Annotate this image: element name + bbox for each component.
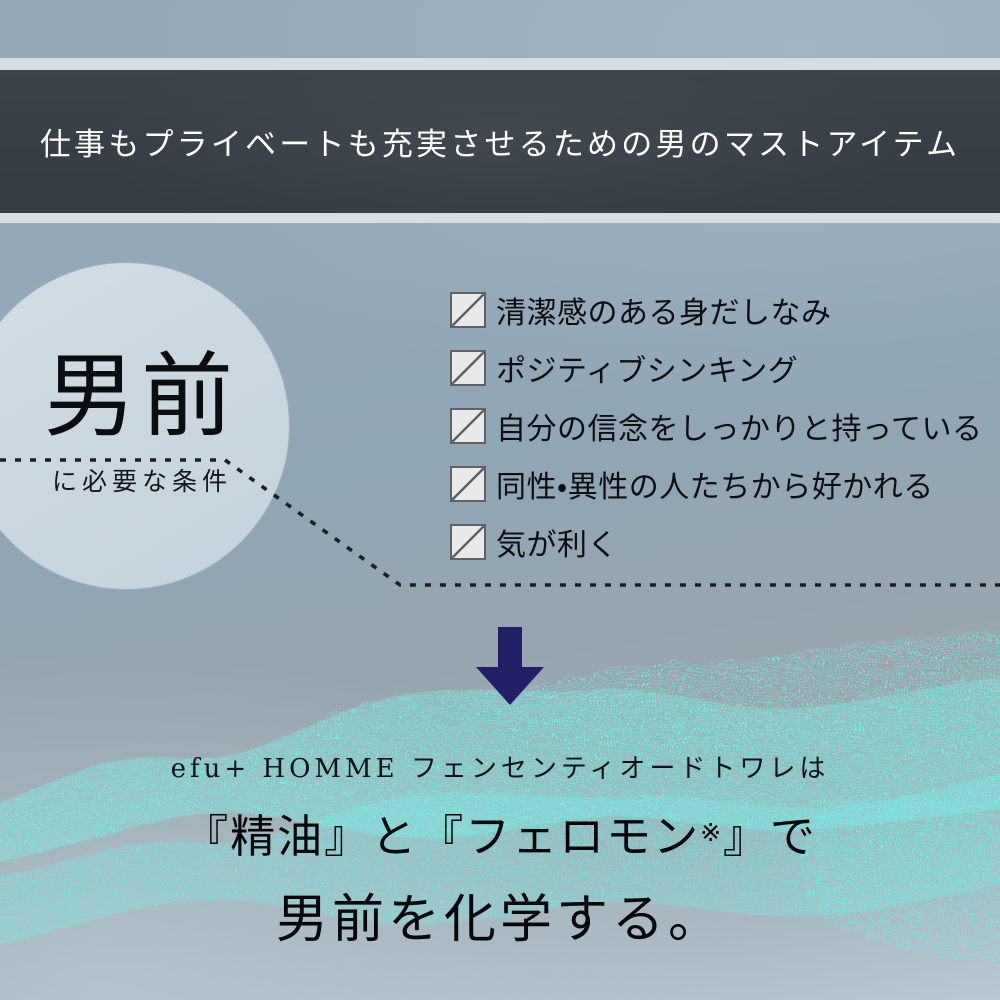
tagline-line-3: 男前を化学する。 (276, 877, 724, 952)
header-title: 仕事もプライベートも充実させるための男のマストアイテム (40, 119, 960, 164)
tagline-part-a: 『精油』と『フェロモン (183, 810, 700, 863)
list-item-label: ポジティブシンキング (496, 346, 798, 390)
list-item-label: 同性・異性の人たちから好かれる (496, 462, 934, 506)
tagline-part-b: 』で (723, 810, 817, 863)
bottom-copy: efu+ HOMME フェンセンティオードトワレは 『精油』と『フェロモン※』で… (0, 748, 1000, 952)
checkbox-diagonal-icon[interactable] (450, 292, 486, 328)
list-item-label: 気が利く (496, 520, 618, 564)
promo-banner: 仕事もプライベートも充実させるための男のマストアイテム 男前 に必要な条件 清潔… (0, 0, 1000, 1000)
header-top-strip (0, 58, 1000, 70)
list-item: 気が利く (450, 513, 995, 571)
checkbox-diagonal-icon[interactable] (450, 524, 486, 560)
list-item: 同性・異性の人たちから好かれる (450, 455, 995, 513)
requirements-checklist: 清潔感のある身だしなみ ポジティブシンキング 自分の信念をしっかりと持っている … (450, 281, 995, 571)
product-name-line: efu+ HOMME フェンセンティオードトワレは (171, 748, 830, 785)
list-item-label: 自分の信念をしっかりと持っている (496, 404, 983, 448)
list-item: 清潔感のある身だしなみ (450, 281, 995, 339)
checkbox-diagonal-icon[interactable] (450, 350, 486, 386)
reference-mark-icon: ※ (700, 818, 723, 847)
list-item-label: 清潔感のある身だしなみ (496, 288, 832, 332)
checkbox-diagonal-icon[interactable] (450, 408, 486, 444)
tagline-line-2: 『精油』と『フェロモン※』で (183, 800, 817, 865)
list-item: ポジティブシンキング (450, 339, 995, 397)
arrow-down-icon (472, 627, 548, 707)
header-band: 仕事もプライベートも充実させるための男のマストアイテム (0, 70, 1000, 213)
checkbox-diagonal-icon[interactable] (450, 466, 486, 502)
list-item: 自分の信念をしっかりと持っている (450, 397, 995, 455)
